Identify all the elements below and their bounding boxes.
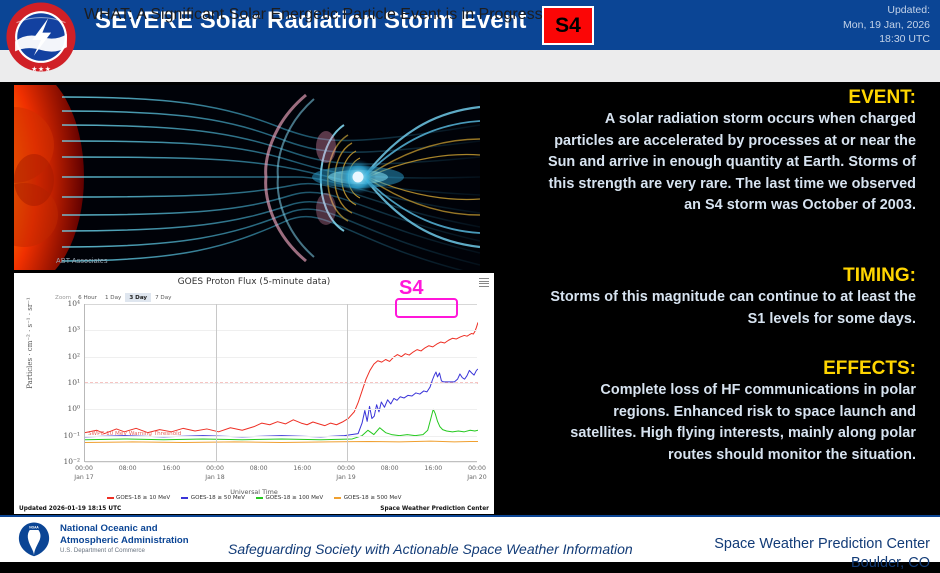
what-strip [0, 50, 940, 82]
storm-scale-value: S4 [555, 14, 581, 38]
x-tick-label: 08:00 [381, 465, 399, 474]
center-line1: Space Weather Prediction Center [714, 535, 930, 554]
y-tick-label: 10⁰ [67, 404, 80, 413]
chart-updated-stamp: Updated 2026-01-19 18:15 UTC [19, 506, 121, 512]
x-tick-label: 00:00Jan 19 [336, 465, 355, 482]
svg-text:★ ★ ★: ★ ★ ★ [32, 66, 52, 73]
h-gridline [85, 330, 477, 331]
timing-body: Storms of this magnitude can continue to… [544, 287, 916, 330]
updated-timestamp-block: Updated: Mon, 19 Jan, 2026 18:30 UTC [843, 3, 930, 47]
zoom-range-1-day[interactable]: 1 Day [101, 293, 125, 302]
noaa-wordmark: NOAA [29, 526, 39, 530]
hamburger-menu-icon[interactable] [479, 278, 489, 287]
zoom-range-3-day[interactable]: 3 Day [125, 293, 151, 302]
x-tick-label: 00:00Jan 18 [205, 465, 224, 482]
figure-credit: ABT Associates [56, 258, 108, 265]
section-effects: EFFECTS: Complete loss of HF communicati… [544, 358, 916, 466]
day-separator [216, 304, 217, 462]
noaa-department: U.S. Department of Commerce [60, 547, 145, 554]
national-weather-service-logo-icon: ★ ★ ★ [5, 1, 77, 73]
legend-swatch [107, 497, 114, 499]
legend-label: GOES-18 ≥ 50 MeV [191, 495, 245, 501]
series-line [85, 441, 478, 442]
legend-swatch [334, 497, 341, 499]
y-tick-label: 10¹ [67, 378, 80, 387]
chart-source-credit: Space Weather Prediction Center [380, 506, 489, 512]
footer-tagline: Safeguarding Society with Actionable Spa… [228, 541, 633, 557]
series-line [85, 369, 478, 437]
x-tick-label: 16:00 [293, 465, 311, 474]
h-gridline [85, 357, 477, 358]
h-gridline [85, 462, 477, 463]
magnetosphere-graphic [14, 85, 480, 270]
x-tick-label: 00:00Jan 20 [467, 465, 486, 482]
noaa-agency-line1: National Oceanic and [60, 523, 189, 535]
timing-heading: TIMING: [544, 265, 916, 287]
footer-divider [0, 515, 940, 517]
h-gridline [85, 383, 477, 384]
info-panel: EVENT: A solar radiation storm occurs wh… [500, 82, 928, 515]
updated-label: Updated: [843, 3, 930, 18]
zoom-range-7-day[interactable]: 7 Day [151, 293, 175, 302]
effects-body: Complete loss of HF communications in po… [544, 380, 916, 466]
noaa-agency-line2: Atmospheric Administration [60, 535, 189, 547]
y-tick-label: 10³ [67, 325, 80, 334]
s4-annotation-box [395, 298, 458, 318]
threshold-label: SWPC 10 MeV Warning Threshold [88, 431, 181, 437]
footer-bar: NOAA National Oceanic and Atmospheric Ad… [0, 515, 940, 562]
section-event: EVENT: A solar radiation storm occurs wh… [544, 87, 916, 217]
event-heading: EVENT: [544, 87, 916, 109]
main-content: ABT Associates GOES Proton Flux (5-minut… [0, 82, 940, 515]
series-line [85, 322, 478, 433]
updated-time: 18:30 UTC [843, 32, 930, 47]
legend-swatch [181, 497, 188, 499]
y-axis-ticks: 10⁴10³10²10¹10⁰10⁻¹10⁻² [34, 304, 80, 462]
legend-label: GOES-18 ≥ 10 MeV [116, 495, 170, 501]
legend-item[interactable]: GOES-18 ≥ 50 MeV [181, 495, 245, 501]
x-tick-label: 08:00 [250, 465, 268, 474]
legend-item[interactable]: GOES-18 ≥ 10 MeV [107, 495, 171, 501]
y-tick-label: 10² [67, 352, 80, 361]
noaa-logo-icon: NOAA [16, 521, 52, 557]
y-axis-title: Particles · cm⁻² · s⁻¹ · sr⁻¹ [26, 273, 34, 413]
x-tick-label: 08:00 [119, 465, 137, 474]
legend-label: GOES-18 ≥ 500 MeV [344, 495, 402, 501]
legend-item[interactable]: GOES-18 ≥ 100 MeV [256, 495, 323, 501]
legend-item[interactable]: GOES-18 ≥ 500 MeV [334, 495, 401, 501]
magnetosphere-illustration: ABT Associates [14, 85, 480, 270]
legend-swatch [256, 497, 263, 499]
chart-legend[interactable]: GOES-18 ≥ 10 MeVGOES-18 ≥ 50 MeVGOES-18 … [14, 495, 494, 501]
x-tick-label: 16:00 [162, 465, 180, 474]
legend-label: GOES-18 ≥ 100 MeV [265, 495, 323, 501]
effects-heading: EFFECTS: [544, 358, 916, 380]
chart-plot-area[interactable] [84, 304, 477, 462]
h-gridline [85, 409, 477, 410]
footer-center-name: Space Weather Prediction Center Boulder,… [714, 535, 930, 573]
y-tick-label: 10⁻¹ [63, 431, 80, 440]
center-line2: Boulder, CO [714, 554, 930, 573]
x-tick-label: 00:00Jan 17 [74, 465, 93, 482]
day-separator [347, 304, 348, 462]
noaa-agency-name: National Oceanic and Atmospheric Adminis… [60, 523, 189, 546]
section-timing: TIMING: Storms of this magnitude can con… [544, 265, 916, 330]
y-tick-label: 10⁴ [67, 299, 80, 308]
what-statement: WHAT: A Significant Solar Energetic Part… [84, 6, 543, 24]
updated-date: Mon, 19 Jan, 2026 [843, 18, 930, 33]
storm-scale-badge: S4 [542, 6, 594, 45]
x-tick-label: 16:00 [424, 465, 442, 474]
event-body: A solar radiation storm occurs when char… [544, 109, 916, 217]
s4-annotation-label: S4 [399, 277, 423, 300]
